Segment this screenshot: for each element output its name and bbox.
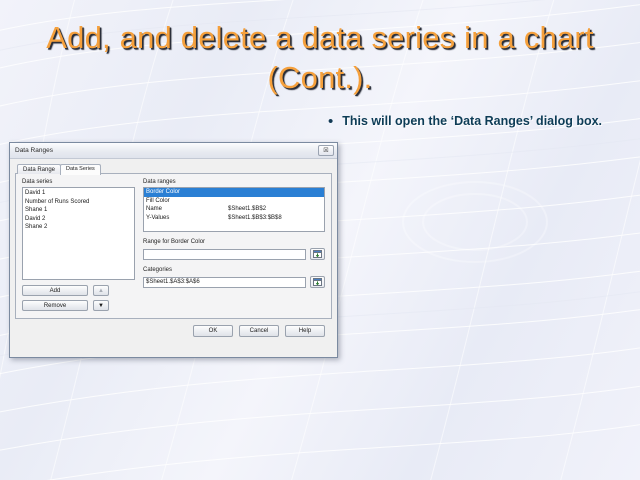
dialog-body: Data Range Data Series Data series David… bbox=[10, 159, 337, 341]
data-series-listbox[interactable]: David 1 Number of Runs Scored Shane 1 Da… bbox=[22, 187, 135, 280]
range-value: $Sheet1.$B$3:$B$8 bbox=[228, 214, 282, 223]
bullet-list: • This will open the ‘Data Ranges’ dialo… bbox=[328, 113, 628, 130]
data-ranges-listbox[interactable]: Border Color Fill Color Name $Sheet1.$B$… bbox=[143, 187, 325, 232]
tab-data-range[interactable]: Data Range bbox=[17, 164, 61, 174]
table-row[interactable]: Border Color bbox=[144, 188, 324, 197]
select-range-glyph bbox=[313, 250, 322, 258]
list-item[interactable]: David 2 bbox=[23, 215, 134, 224]
bullet-marker-icon: • bbox=[328, 113, 333, 130]
range-for-input[interactable] bbox=[143, 249, 306, 260]
tab-strip: Data Range Data Series bbox=[17, 162, 332, 174]
add-row: Add ▲ bbox=[22, 285, 135, 296]
range-name: Y-Values bbox=[146, 214, 228, 223]
categories-label: Categories bbox=[143, 267, 325, 273]
list-item[interactable]: Shane 2 bbox=[23, 223, 134, 232]
tab-data-series[interactable]: Data Series bbox=[60, 164, 101, 176]
bullet-text: This will open the ‘Data Ranges’ dialog … bbox=[342, 113, 602, 130]
move-up-button[interactable]: ▲ bbox=[93, 285, 109, 296]
categories-row: $Sheet1.$A$3:$A$6 bbox=[143, 276, 325, 288]
ok-button[interactable]: OK bbox=[193, 325, 233, 337]
data-series-column: Data series David 1 Number of Runs Score… bbox=[22, 179, 135, 311]
dialog-title: Data Ranges bbox=[15, 147, 318, 154]
select-range-glyph bbox=[313, 278, 322, 286]
remove-button[interactable]: Remove bbox=[22, 300, 88, 311]
spacer bbox=[143, 232, 325, 239]
data-ranges-dialog: Data Ranges ☒ Data Range Data Series Dat… bbox=[9, 142, 338, 358]
list-item[interactable]: Number of Runs Scored bbox=[23, 198, 134, 207]
series-buttons: Add ▲ Remove ▼ bbox=[22, 285, 135, 311]
range-for-row bbox=[143, 248, 325, 260]
help-button[interactable]: Help bbox=[285, 325, 325, 337]
dialog-titlebar[interactable]: Data Ranges ☒ bbox=[10, 143, 337, 159]
range-name: Name bbox=[146, 205, 228, 214]
data-ranges-column: Data ranges Border Color Fill Color Name bbox=[143, 179, 325, 311]
cancel-button[interactable]: Cancel bbox=[239, 325, 279, 337]
remove-row: Remove ▼ bbox=[22, 300, 135, 311]
select-range-icon[interactable] bbox=[310, 248, 325, 260]
list-item: David 1 bbox=[23, 189, 134, 198]
categories-input[interactable]: $Sheet1.$A$3:$A$6 bbox=[143, 277, 306, 288]
range-name: Border Color bbox=[146, 188, 228, 197]
table-row[interactable]: Name $Sheet1.$B$2 bbox=[144, 205, 324, 214]
select-range-icon[interactable] bbox=[310, 276, 325, 288]
data-ranges-label: Data ranges bbox=[143, 179, 325, 185]
background-watermark bbox=[360, 170, 590, 280]
table-row[interactable]: Y-Values $Sheet1.$B$3:$B$8 bbox=[144, 214, 324, 223]
data-series-label: Data series bbox=[22, 179, 135, 185]
spacer bbox=[143, 260, 325, 267]
tab-panel-data-series: Data series David 1 Number of Runs Score… bbox=[15, 173, 332, 319]
page-title: Add, and delete a data series in a chart… bbox=[28, 18, 612, 97]
slide-canvas: Add, and delete a data series in a chart… bbox=[0, 0, 640, 480]
table-row[interactable]: Fill Color bbox=[144, 197, 324, 206]
list-item[interactable]: Shane 1 bbox=[23, 206, 134, 215]
dialog-footer: OK Cancel Help bbox=[15, 320, 332, 337]
list-item-label-selected[interactable]: David 1 bbox=[25, 190, 45, 196]
range-for-label: Range for Border Color bbox=[143, 239, 325, 245]
add-button[interactable]: Add bbox=[22, 285, 88, 296]
range-name: Fill Color bbox=[146, 197, 228, 206]
range-value: $Sheet1.$B$2 bbox=[228, 205, 266, 214]
close-icon[interactable]: ☒ bbox=[318, 145, 334, 156]
move-down-button[interactable]: ▼ bbox=[93, 300, 109, 311]
